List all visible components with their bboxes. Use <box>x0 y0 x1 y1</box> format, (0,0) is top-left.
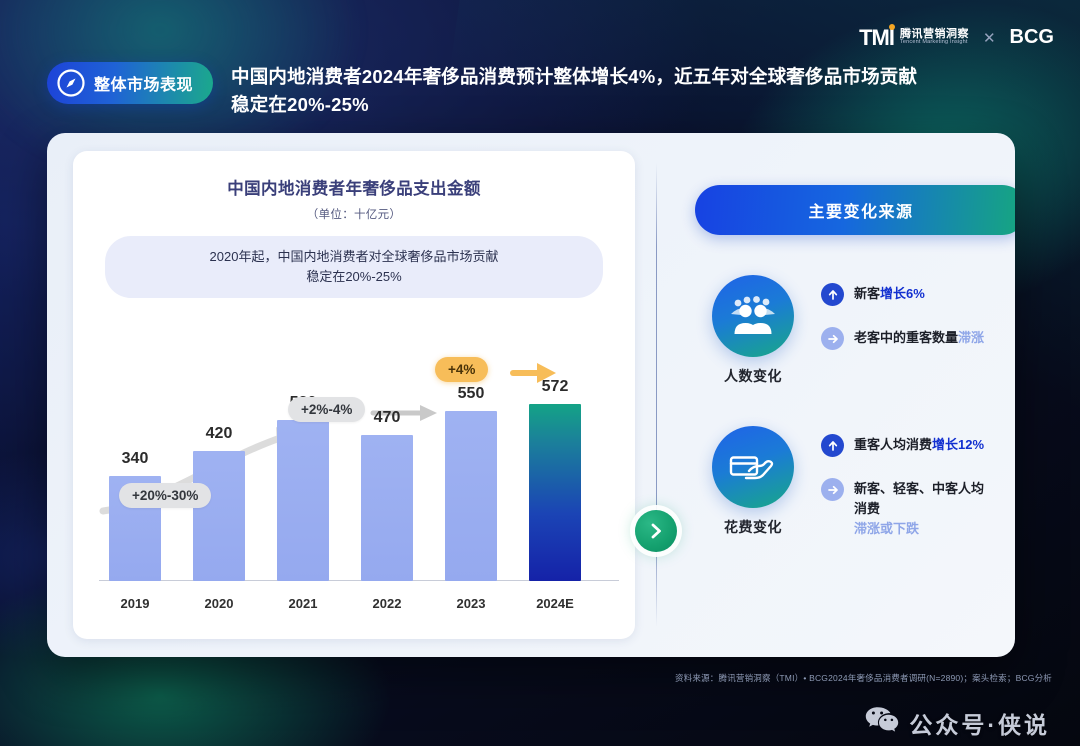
driver-point: 新客、轻客、中客人均消费滞涨或下跌 <box>821 479 985 539</box>
drivers-banner-label: 主要变化来源 <box>808 198 913 222</box>
chart-bar-value: 470 <box>374 409 401 427</box>
chart-bar-group: 4202020 <box>193 451 245 581</box>
driver-point-prefix: 重客人均消费 <box>854 437 932 452</box>
chart-note-line-2: 稳定在20%-25% <box>119 267 589 287</box>
drivers-panel: 主要变化来源 <box>657 133 1015 657</box>
arrow-right-icon <box>821 327 844 350</box>
arrow-right-icon <box>821 478 844 501</box>
chart-panel: 中国内地消费者年奢侈品支出金额 （单位：十亿元） 2020年起，中国内地消费者对… <box>73 151 635 639</box>
people-group-icon <box>712 275 794 357</box>
chart-callout-note: 2020年起，中国内地消费者对全球奢侈品市场贡献 稳定在20%-25% <box>105 236 603 298</box>
chart-bar <box>529 404 581 581</box>
driver-points-list: 重客人均消费增长12% 新客、轻客、中客人均消费滞涨或下跌 <box>821 426 985 539</box>
compass-icon <box>57 69 85 97</box>
headline-line-2: 稳定在20%-25% <box>231 91 917 119</box>
arrow-up-icon <box>821 283 844 306</box>
chart-bar-value: 550 <box>458 385 485 403</box>
chart-title: 中国内地消费者年奢侈品支出金额 <box>73 175 635 199</box>
driver-point: 重客人均消费增长12% <box>821 435 985 457</box>
growth-annotation-1: +2%-4% <box>288 397 365 422</box>
chart-plot-area: 3402019420202052020214702022550202357220… <box>73 331 635 639</box>
source-note: 资料来源：腾讯营销洞察（TMI）• BCG2024年奢侈品消费者调研(N=289… <box>675 672 1052 684</box>
chart-x-tick-label: 2020 <box>205 596 234 611</box>
tmi-chinese-block: 腾讯营销洞察 Tencent Marketing Insight <box>900 29 969 46</box>
chart-x-tick-label: 2023 <box>457 596 486 611</box>
section-kicker-label: 整体市场表现 <box>94 71 193 95</box>
driver-point-prefix: 新客、轻客、中客人均消费 <box>854 479 985 519</box>
logo-bar: TMI 腾讯营销洞察 Tencent Marketing Insight ✕ B… <box>859 26 1054 49</box>
driver-point: 新客增长6% <box>821 284 985 306</box>
chart-bar-group: 4702022 <box>361 435 413 581</box>
chart-bar-value: 340 <box>122 450 149 468</box>
growth-annotation-0: +20%-30% <box>119 483 211 508</box>
chart-x-tick-label: 2021 <box>289 596 318 611</box>
chart-bar-group: 5202021 <box>277 420 329 581</box>
logo-separator-icon: ✕ <box>983 29 996 47</box>
watermark: 公众号·侠说 <box>865 706 1050 740</box>
content-card: 中国内地消费者年奢侈品支出金额 （单位：十亿元） 2020年起，中国内地消费者对… <box>47 133 1015 657</box>
driver-point-text: 新客增长6% <box>854 284 925 304</box>
driver-caption: 花费变化 <box>705 517 801 537</box>
chart-x-tick-label: 2024E <box>536 596 574 611</box>
chart-bar <box>193 451 245 581</box>
driver-point-text: 老客中的重客数量滞涨 <box>854 328 984 348</box>
tmi-english-name: Tencent Marketing Insight <box>900 40 969 46</box>
chart-bar-group: 5502023 <box>445 411 497 581</box>
driver-points-list: 新客增长6% 老客中的重客数量滞涨 <box>821 275 985 350</box>
driver-row: 花费变化 重客人均消费增长12% <box>695 426 985 539</box>
slide-header: 整体市场表现 中国内地消费者2024年奢侈品消费预计整体增长4%，近五年对全球奢… <box>47 62 1010 119</box>
driver-point-emphasis: 增长12% <box>932 437 984 452</box>
driver-point-emphasis: 滞涨 <box>958 330 984 345</box>
bcg-logo: BCG <box>1010 26 1054 49</box>
driver-icon-block: 人数变化 <box>705 275 801 386</box>
hand-card-icon <box>712 426 794 508</box>
driver-point-text: 重客人均消费增长12% <box>854 435 984 455</box>
drivers-banner: 主要变化来源 <box>695 185 1015 235</box>
driver-row: 人数变化 新客增长6% 老 <box>695 275 985 386</box>
wechat-icon <box>865 706 899 740</box>
chart-bar <box>445 411 497 581</box>
driver-caption: 人数变化 <box>705 366 801 386</box>
chart-bar <box>277 420 329 581</box>
chart-bar <box>361 435 413 581</box>
tmi-logo: TMI 腾讯营销洞察 Tencent Marketing Insight <box>859 27 969 49</box>
driver-point-prefix: 老客中的重客数量 <box>854 330 958 345</box>
chart-bar-value: 572 <box>542 378 569 396</box>
driver-icon-block: 花费变化 <box>705 426 801 537</box>
arrow-up-icon <box>821 434 844 457</box>
driver-point-emphasis: 滞涨或下跌 <box>854 519 985 539</box>
driver-point-emphasis: 增长6% <box>880 286 925 301</box>
chart-x-tick-label: 2019 <box>121 596 150 611</box>
chart-bar-group: 5722024E <box>529 404 581 581</box>
tmi-wordmark: TMI <box>859 27 894 49</box>
chart-x-tick-label: 2022 <box>373 596 402 611</box>
driver-point-prefix: 新客 <box>854 286 880 301</box>
tmi-accent-dot <box>889 24 895 30</box>
headline-line-1: 中国内地消费者2024年奢侈品消费预计整体增长4%，近五年对全球奢侈品市场贡献 <box>231 66 917 87</box>
section-kicker-badge: 整体市场表现 <box>47 62 213 104</box>
watermark-text: 公众号·侠说 <box>909 706 1050 740</box>
page-title: 中国内地消费者2024年奢侈品消费预计整体增长4%，近五年对全球奢侈品市场贡献 … <box>231 63 917 119</box>
chart-unit-label: （单位：十亿元） <box>73 206 635 222</box>
growth-annotation-2: +4% <box>435 357 488 382</box>
chart-note-line-1: 2020年起，中国内地消费者对全球奢侈品市场贡献 <box>119 247 589 267</box>
chart-bar-value: 420 <box>206 425 233 443</box>
driver-point: 老客中的重客数量滞涨 <box>821 328 985 350</box>
driver-point-text: 新客、轻客、中客人均消费滞涨或下跌 <box>854 479 985 539</box>
